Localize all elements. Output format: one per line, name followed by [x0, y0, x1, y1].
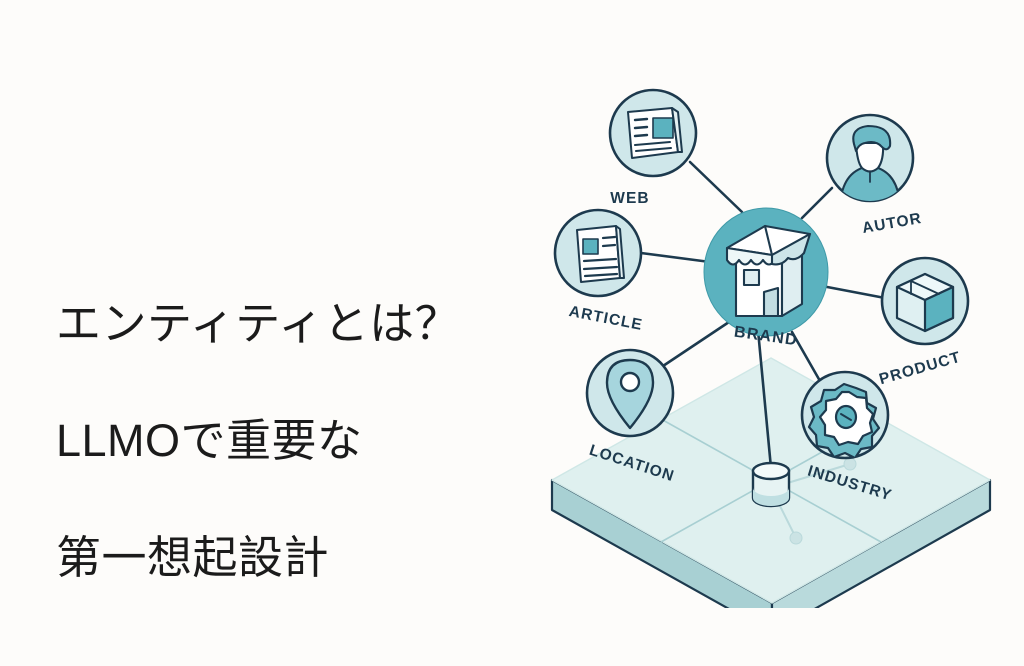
headline-line-2: LLMOで重要な: [56, 412, 526, 471]
page-title: エンティティとは？ LLMOで重要な 第一想起設計: [56, 236, 526, 646]
link-article-brand: [641, 253, 710, 262]
product-label: PRODUCT: [877, 349, 963, 389]
link-location-brand: [660, 320, 732, 368]
web-label: WEB: [610, 190, 649, 207]
autor-label: AUTOR: [861, 210, 923, 237]
node-autor[interactable]: AUTOR: [827, 115, 923, 237]
document-article-icon: [577, 226, 624, 282]
node-article[interactable]: ARTICLE: [555, 210, 644, 334]
link-product-brand: [822, 286, 885, 298]
headline-line-1: エンティティとは？: [56, 295, 526, 354]
node-web[interactable]: WEB: [610, 90, 696, 207]
webpage-icon: [628, 108, 682, 158]
slide-canvas: エンティティとは？ LLMOで重要な 第一想起設計: [0, 0, 1024, 666]
article-label: ARTICLE: [568, 303, 645, 334]
cylinder-node: [753, 463, 789, 506]
node-brand[interactable]: BRAND: [704, 208, 828, 349]
headline-line-3: 第一想起設計: [56, 529, 526, 588]
box-package-icon: [897, 274, 953, 331]
entity-diagram: BRAND WEB: [520, 48, 1020, 608]
link-autor-brand: [802, 188, 832, 218]
link-web-brand: [690, 162, 742, 212]
node-product[interactable]: PRODUCT: [877, 258, 968, 388]
